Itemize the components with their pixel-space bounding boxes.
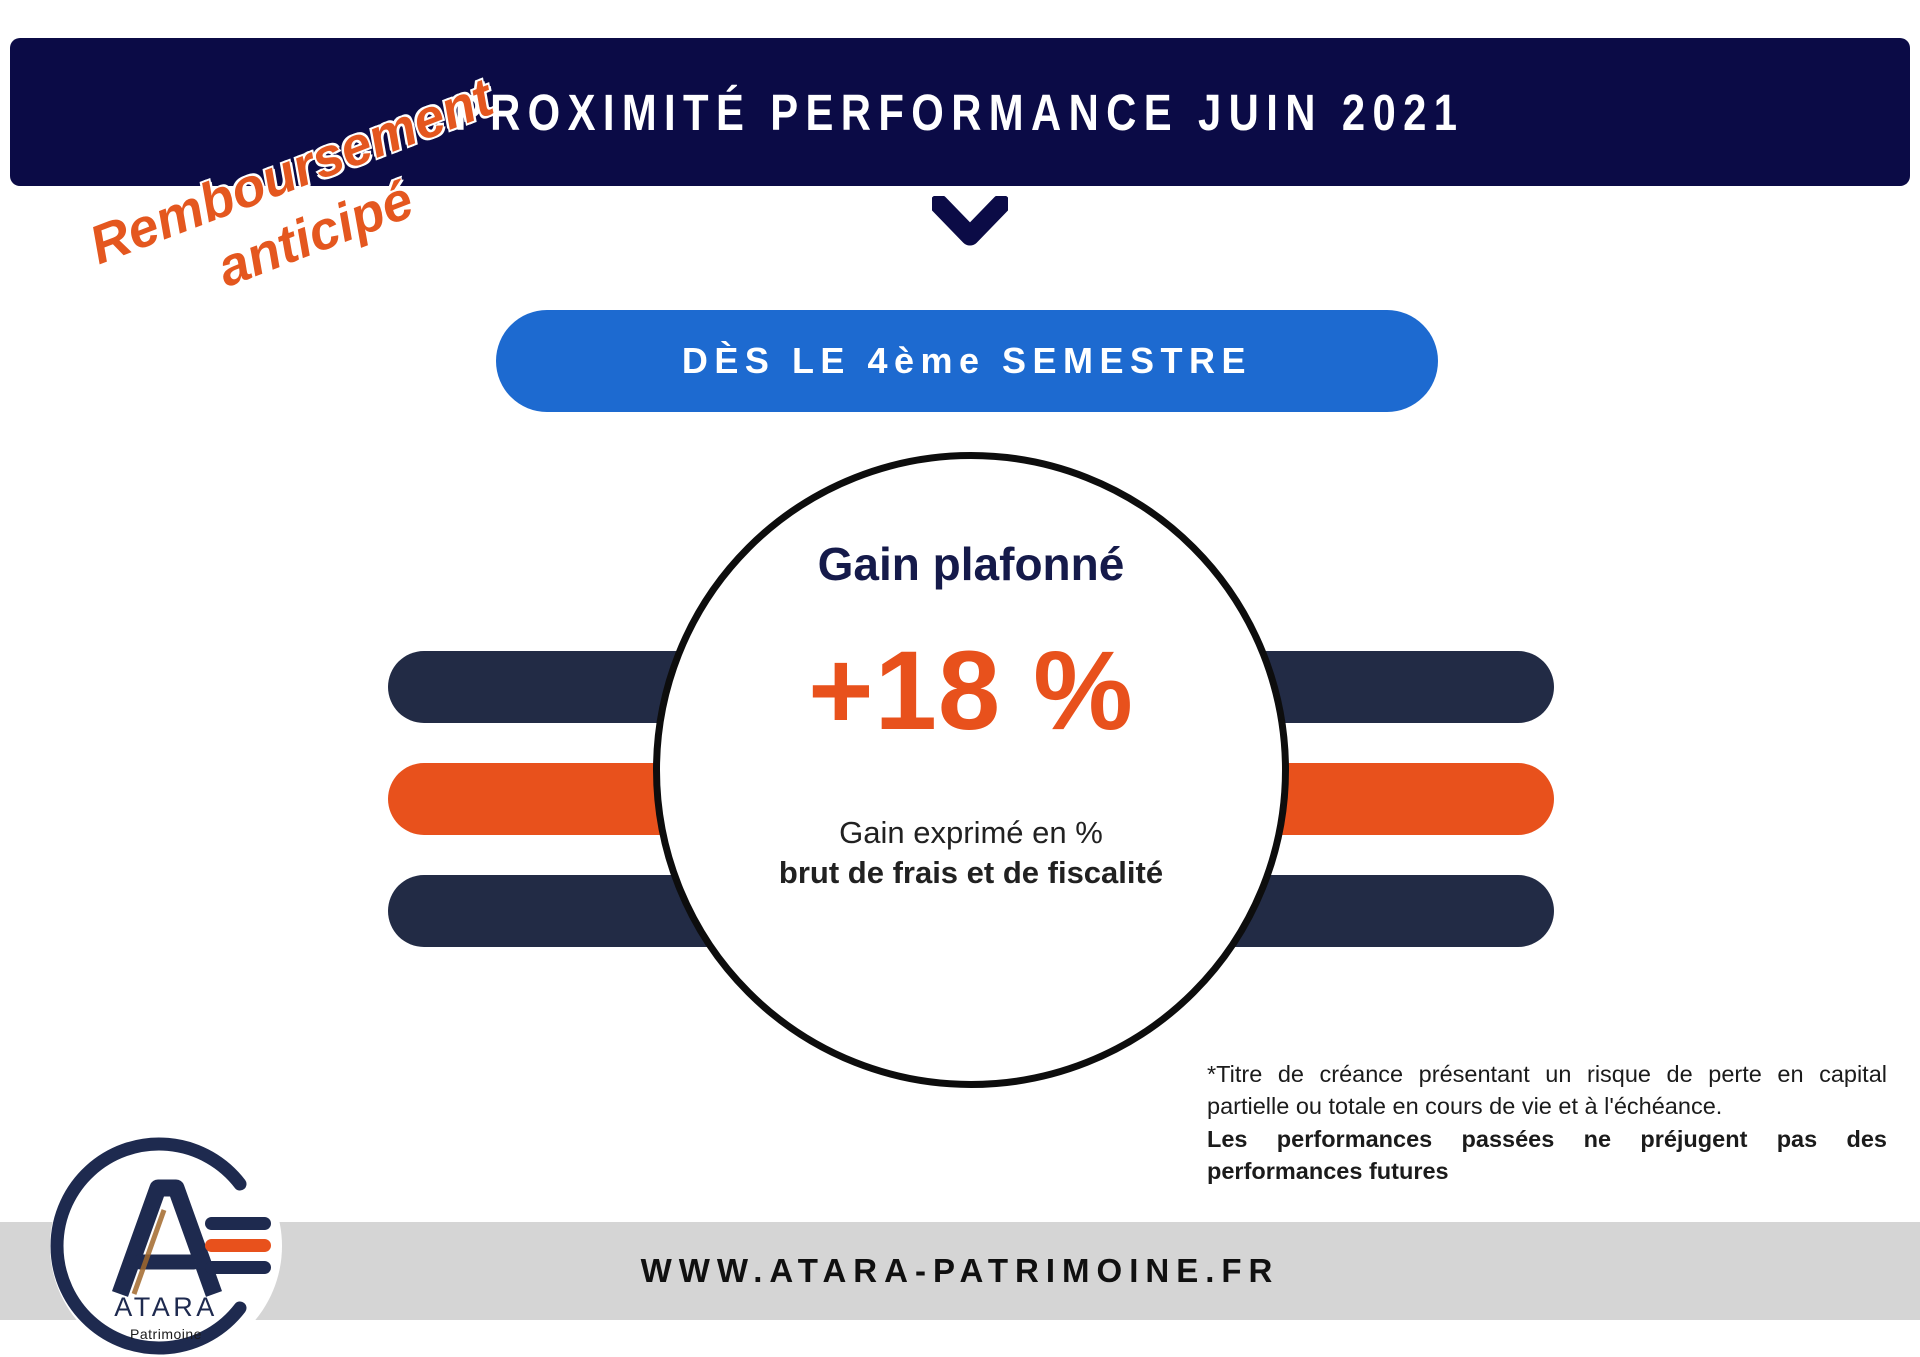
gain-note: Gain exprimé en % brut de frais et de fi…	[779, 813, 1163, 894]
logo-tagline: Patrimoine	[42, 1326, 290, 1342]
disclaimer-line1: *Titre de créance présentant un risque d…	[1207, 1058, 1887, 1123]
semester-pill[interactable]: DÈS LE 4ème SEMESTRE	[496, 310, 1438, 412]
gain-note-line2: brut de frais et de fiscalité	[779, 853, 1163, 893]
gain-heading: Gain plafonné	[818, 541, 1125, 587]
disclaimer-line2: Les performances passées ne préjugent pa…	[1207, 1123, 1887, 1188]
gain-value: +18 %	[808, 635, 1134, 747]
gain-circle: Gain plafonné +18 % Gain exprimé en % br…	[653, 452, 1289, 1088]
poster-canvas: PROXIMITÉ PERFORMANCE JUIN 2021 DÈS LE 4…	[0, 0, 1920, 1357]
website-url[interactable]: WWW.ATARA-PATRIMOINE.FR	[641, 1252, 1280, 1290]
gain-note-line1: Gain exprimé en %	[779, 813, 1163, 853]
atara-logo[interactable]: ATARA Patrimoine	[42, 1122, 290, 1357]
logo-brand: ATARA	[42, 1292, 290, 1323]
page-title: PROXIMITÉ PERFORMANCE JUIN 2021	[455, 83, 1465, 142]
disclaimer: *Titre de créance présentant un risque d…	[1207, 1058, 1887, 1188]
chevron-down-icon	[932, 196, 1008, 252]
semester-pill-label: DÈS LE 4ème SEMESTRE	[682, 340, 1252, 382]
